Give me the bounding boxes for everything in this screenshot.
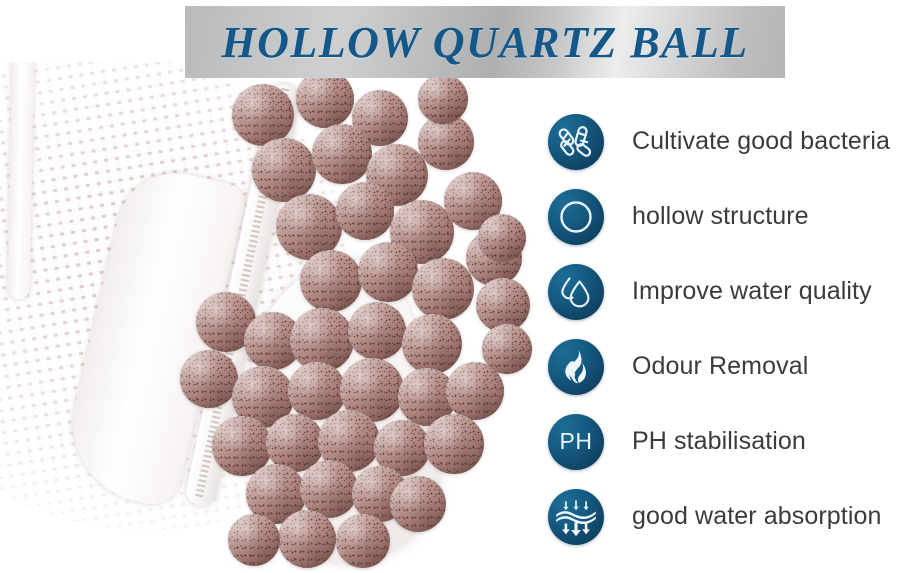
feature-label: hollow structure [632, 202, 809, 231]
title-banner: HOLLOW QUARTZ BALL [185, 6, 785, 78]
quartz-ball [336, 514, 390, 568]
quartz-ball [424, 414, 484, 474]
quartz-ball [482, 324, 532, 374]
quartz-ball [232, 84, 294, 146]
product-infographic: HOLLOW QUARTZ BALL Cultivate good bacter… [0, 0, 922, 573]
quartz-ball [390, 476, 446, 532]
feature-list: Cultivate good bacteria hollow structure [548, 104, 922, 554]
feature-item-hollow-structure: hollow structure [548, 179, 922, 254]
feature-label: good water absorption [632, 502, 882, 531]
quartz-ball [300, 250, 362, 312]
feature-item-good-water-absorption: good water absorption [548, 479, 922, 554]
quartz-ball [252, 138, 316, 202]
feature-item-cultivate-good-bacteria: Cultivate good bacteria [548, 104, 922, 179]
feature-label: PH stabilisation [632, 427, 806, 456]
feature-item-improve-water-quality: Improve water quality [548, 254, 922, 329]
feature-label: Cultivate good bacteria [632, 127, 890, 156]
bag-seam [8, 62, 34, 299]
ph-icon: PH [548, 414, 604, 470]
bacteria-icon [548, 114, 604, 170]
ph-badge-text: PH [560, 428, 593, 454]
quartz-ball [478, 214, 526, 262]
flame-icon [548, 339, 604, 395]
water-absorption-icon [548, 489, 604, 545]
quartz-ball [402, 314, 462, 374]
quartz-ball [228, 514, 280, 566]
water-droplets-icon [548, 264, 604, 320]
page-title: HOLLOW QUARTZ BALL [185, 6, 785, 78]
quartz-ball [358, 242, 418, 302]
feature-label: Improve water quality [632, 277, 872, 306]
quartz-ball [418, 74, 468, 124]
hollow-circle-icon [548, 189, 604, 245]
product-photo [0, 62, 545, 573]
quartz-ball [278, 510, 336, 568]
photo-canvas [0, 62, 545, 573]
quartz-ball [180, 350, 238, 408]
quartz-ball [336, 182, 394, 240]
feature-item-ph-stabilisation: PH PH stabilisation [548, 404, 922, 479]
feature-item-odour-removal: Odour Removal [548, 329, 922, 404]
quartz-ball [348, 302, 406, 360]
quartz-ball [412, 258, 474, 320]
quartz-ball [312, 124, 372, 184]
feature-label: Odour Removal [632, 352, 808, 381]
quartz-ball [296, 70, 354, 128]
